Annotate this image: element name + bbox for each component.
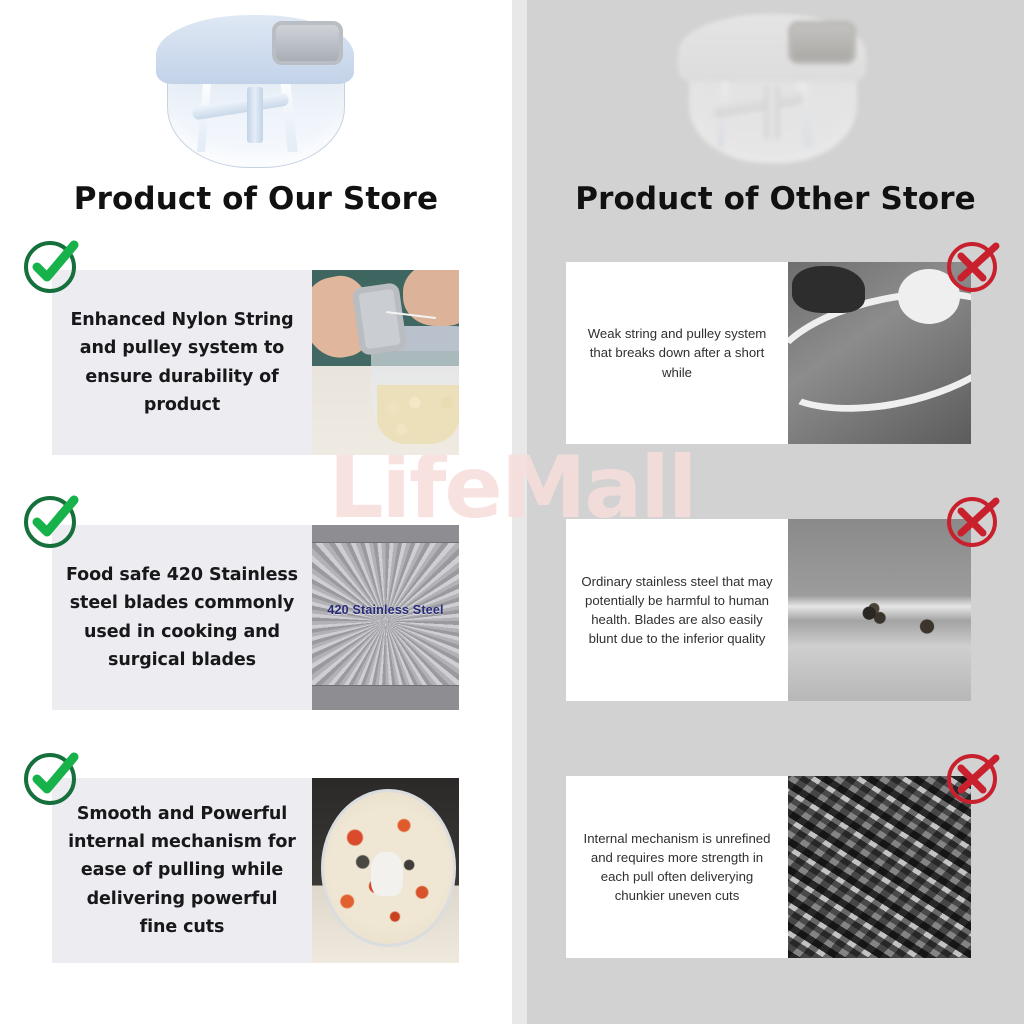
steel-grade-label: 420 Stainless Steel bbox=[312, 603, 459, 617]
feature-text: Internal mechanism is unrefined and requ… bbox=[566, 776, 788, 958]
feature-row-3-left: Smooth and Powerful internal mechanism f… bbox=[52, 778, 459, 963]
feature-text: Smooth and Powerful internal mechanism f… bbox=[52, 778, 312, 963]
feature-text: Enhanced Nylon String and pulley system … bbox=[52, 270, 312, 455]
right-column-title: Product of Other Store bbox=[527, 176, 1024, 222]
cross-circle-icon bbox=[944, 492, 1002, 550]
check-circle-icon bbox=[22, 492, 80, 550]
hero-product-other-store bbox=[672, 8, 872, 168]
column-divider bbox=[512, 0, 527, 1024]
feature-row-3-right: Internal mechanism is unrefined and requ… bbox=[566, 776, 971, 958]
feature-row-1-right: Weak string and pulley system that break… bbox=[566, 262, 971, 444]
feature-photo-hand-pulling-string bbox=[312, 270, 459, 455]
comparison-infographic: Product of Our Store Product of Other St… bbox=[0, 0, 1024, 1024]
chopper-pull-handle bbox=[272, 21, 343, 65]
feature-text: Ordinary stainless steel that may potent… bbox=[566, 519, 788, 701]
feature-text: Food safe 420 Stainless steel blades com… bbox=[52, 525, 312, 710]
cross-circle-icon bbox=[944, 749, 1002, 807]
hero-product-our-store bbox=[150, 8, 360, 173]
feature-photo-chopped-vegetables bbox=[312, 778, 459, 963]
chopper-shaft bbox=[247, 87, 264, 143]
chopper-pull-handle bbox=[788, 21, 856, 64]
feature-row-2-left: Food safe 420 Stainless steel blades com… bbox=[52, 525, 459, 710]
chopper-shaft bbox=[764, 85, 780, 139]
feature-text: Weak string and pulley system that break… bbox=[566, 262, 788, 444]
check-circle-icon bbox=[22, 749, 80, 807]
feature-photo-stainless-steel: 420 Stainless Steel bbox=[312, 525, 459, 710]
left-column-title: Product of Our Store bbox=[0, 176, 512, 222]
cross-circle-icon bbox=[944, 237, 1002, 295]
feature-row-1-left: Enhanced Nylon String and pulley system … bbox=[52, 270, 459, 455]
feature-row-2-right: Ordinary stainless steel that may potent… bbox=[566, 519, 971, 701]
check-circle-icon bbox=[22, 237, 80, 295]
